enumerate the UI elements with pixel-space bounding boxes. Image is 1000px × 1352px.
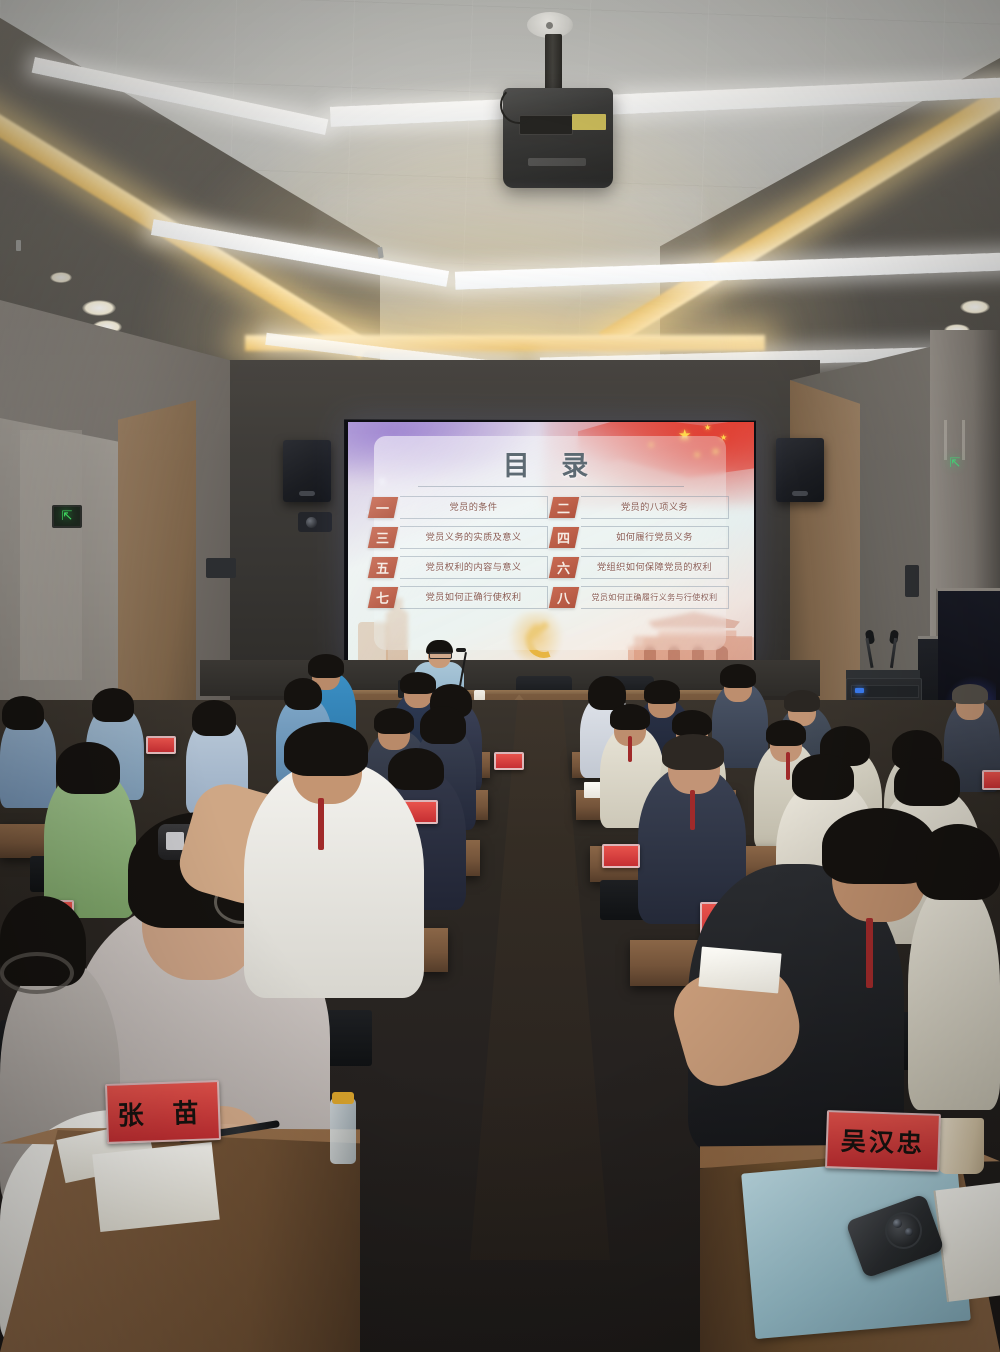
projector-mount-pole xyxy=(545,34,562,96)
attendee-foreground xyxy=(908,880,1000,1110)
paper-cup xyxy=(938,1118,984,1174)
name-plate xyxy=(494,752,524,770)
attendee-hair xyxy=(2,696,44,730)
left-wall-wood-panel xyxy=(118,400,196,730)
lanyard xyxy=(690,790,695,830)
exit-sign-icon-right: ⇱ xyxy=(944,455,966,472)
camera-lens-icon xyxy=(306,517,317,528)
attendee-hair xyxy=(792,754,854,800)
attendee-hair xyxy=(374,708,414,734)
attendee-hair xyxy=(400,672,436,694)
handout-paper xyxy=(92,1142,219,1232)
attendee-hair xyxy=(952,684,988,704)
rack-led-indicator xyxy=(855,688,864,693)
speaker-port xyxy=(299,491,315,496)
attendee-hair xyxy=(92,688,134,722)
wall-speaker-right xyxy=(776,438,824,502)
water-bottle xyxy=(330,1098,356,1164)
recessed-downlight xyxy=(960,300,990,314)
attendee-hair xyxy=(644,680,680,704)
handout-paper xyxy=(698,947,781,994)
name-plate xyxy=(602,844,640,868)
speaker-port xyxy=(792,491,808,496)
wall-outlet-box xyxy=(905,565,919,597)
presenter-glasses-icon xyxy=(429,652,452,659)
attendee-hair xyxy=(894,758,960,806)
camera-lens-icon xyxy=(905,1228,913,1236)
exit-sign-icon-left: ⇱ xyxy=(52,505,82,528)
wall-control-box[interactable] xyxy=(206,558,236,578)
name-plate-wu: 吴汉忠 xyxy=(825,1110,941,1172)
microphone-head-icon xyxy=(456,648,466,652)
hair-clip-stone xyxy=(166,832,184,850)
name-plate-zhang: 张 苗 xyxy=(105,1080,221,1144)
attendee-hair xyxy=(308,654,344,678)
attendee-hair xyxy=(662,734,724,770)
eyeglasses-icon xyxy=(0,952,74,994)
projector-label-sticker xyxy=(572,114,606,130)
bottle-cap xyxy=(332,1092,354,1104)
name-plate-text: 吴汉忠 xyxy=(840,1122,925,1161)
recessed-downlight xyxy=(50,272,72,283)
ceiling-speaker-nub xyxy=(546,22,553,29)
projector-brand-logo xyxy=(528,158,586,166)
name-plate-text: 张 苗 xyxy=(117,1092,209,1132)
attendee-hair xyxy=(720,664,756,688)
lanyard xyxy=(628,736,632,762)
sprinkler-head-icon xyxy=(16,240,21,251)
left-door[interactable] xyxy=(20,430,82,680)
recessed-downlight xyxy=(82,300,116,316)
lanyard xyxy=(866,918,873,988)
conference-room-photo: ⇱ ⇱ ★ ★ ★ ★ ★ ★ ❦ ❦ ❦ xyxy=(0,0,1000,1352)
projector-cable xyxy=(500,86,538,124)
attendee-hair xyxy=(420,706,466,744)
attendee-hair xyxy=(766,720,806,746)
attendee-hair xyxy=(192,700,236,736)
attendee-hair xyxy=(784,690,820,712)
attendee-hair xyxy=(284,722,368,776)
attendee-hair xyxy=(56,742,120,794)
attendee-hair xyxy=(284,678,322,710)
camera-lens-icon xyxy=(893,1219,902,1228)
exit-sign-glyph: ⇱ xyxy=(950,456,961,471)
exit-sign-glyph: ⇱ xyxy=(62,510,73,523)
wall-speaker-left xyxy=(283,440,331,502)
lanyard xyxy=(786,752,790,780)
lanyard xyxy=(318,798,324,850)
name-plate xyxy=(146,736,176,754)
screen-glare xyxy=(348,422,754,666)
attendee-hair xyxy=(672,710,712,736)
name-plate xyxy=(982,770,1000,790)
attendee-hair xyxy=(388,748,444,790)
exit-sign-hanger-rods xyxy=(936,420,974,460)
attendee-hair xyxy=(610,704,650,730)
attendee-hair xyxy=(916,824,1000,900)
